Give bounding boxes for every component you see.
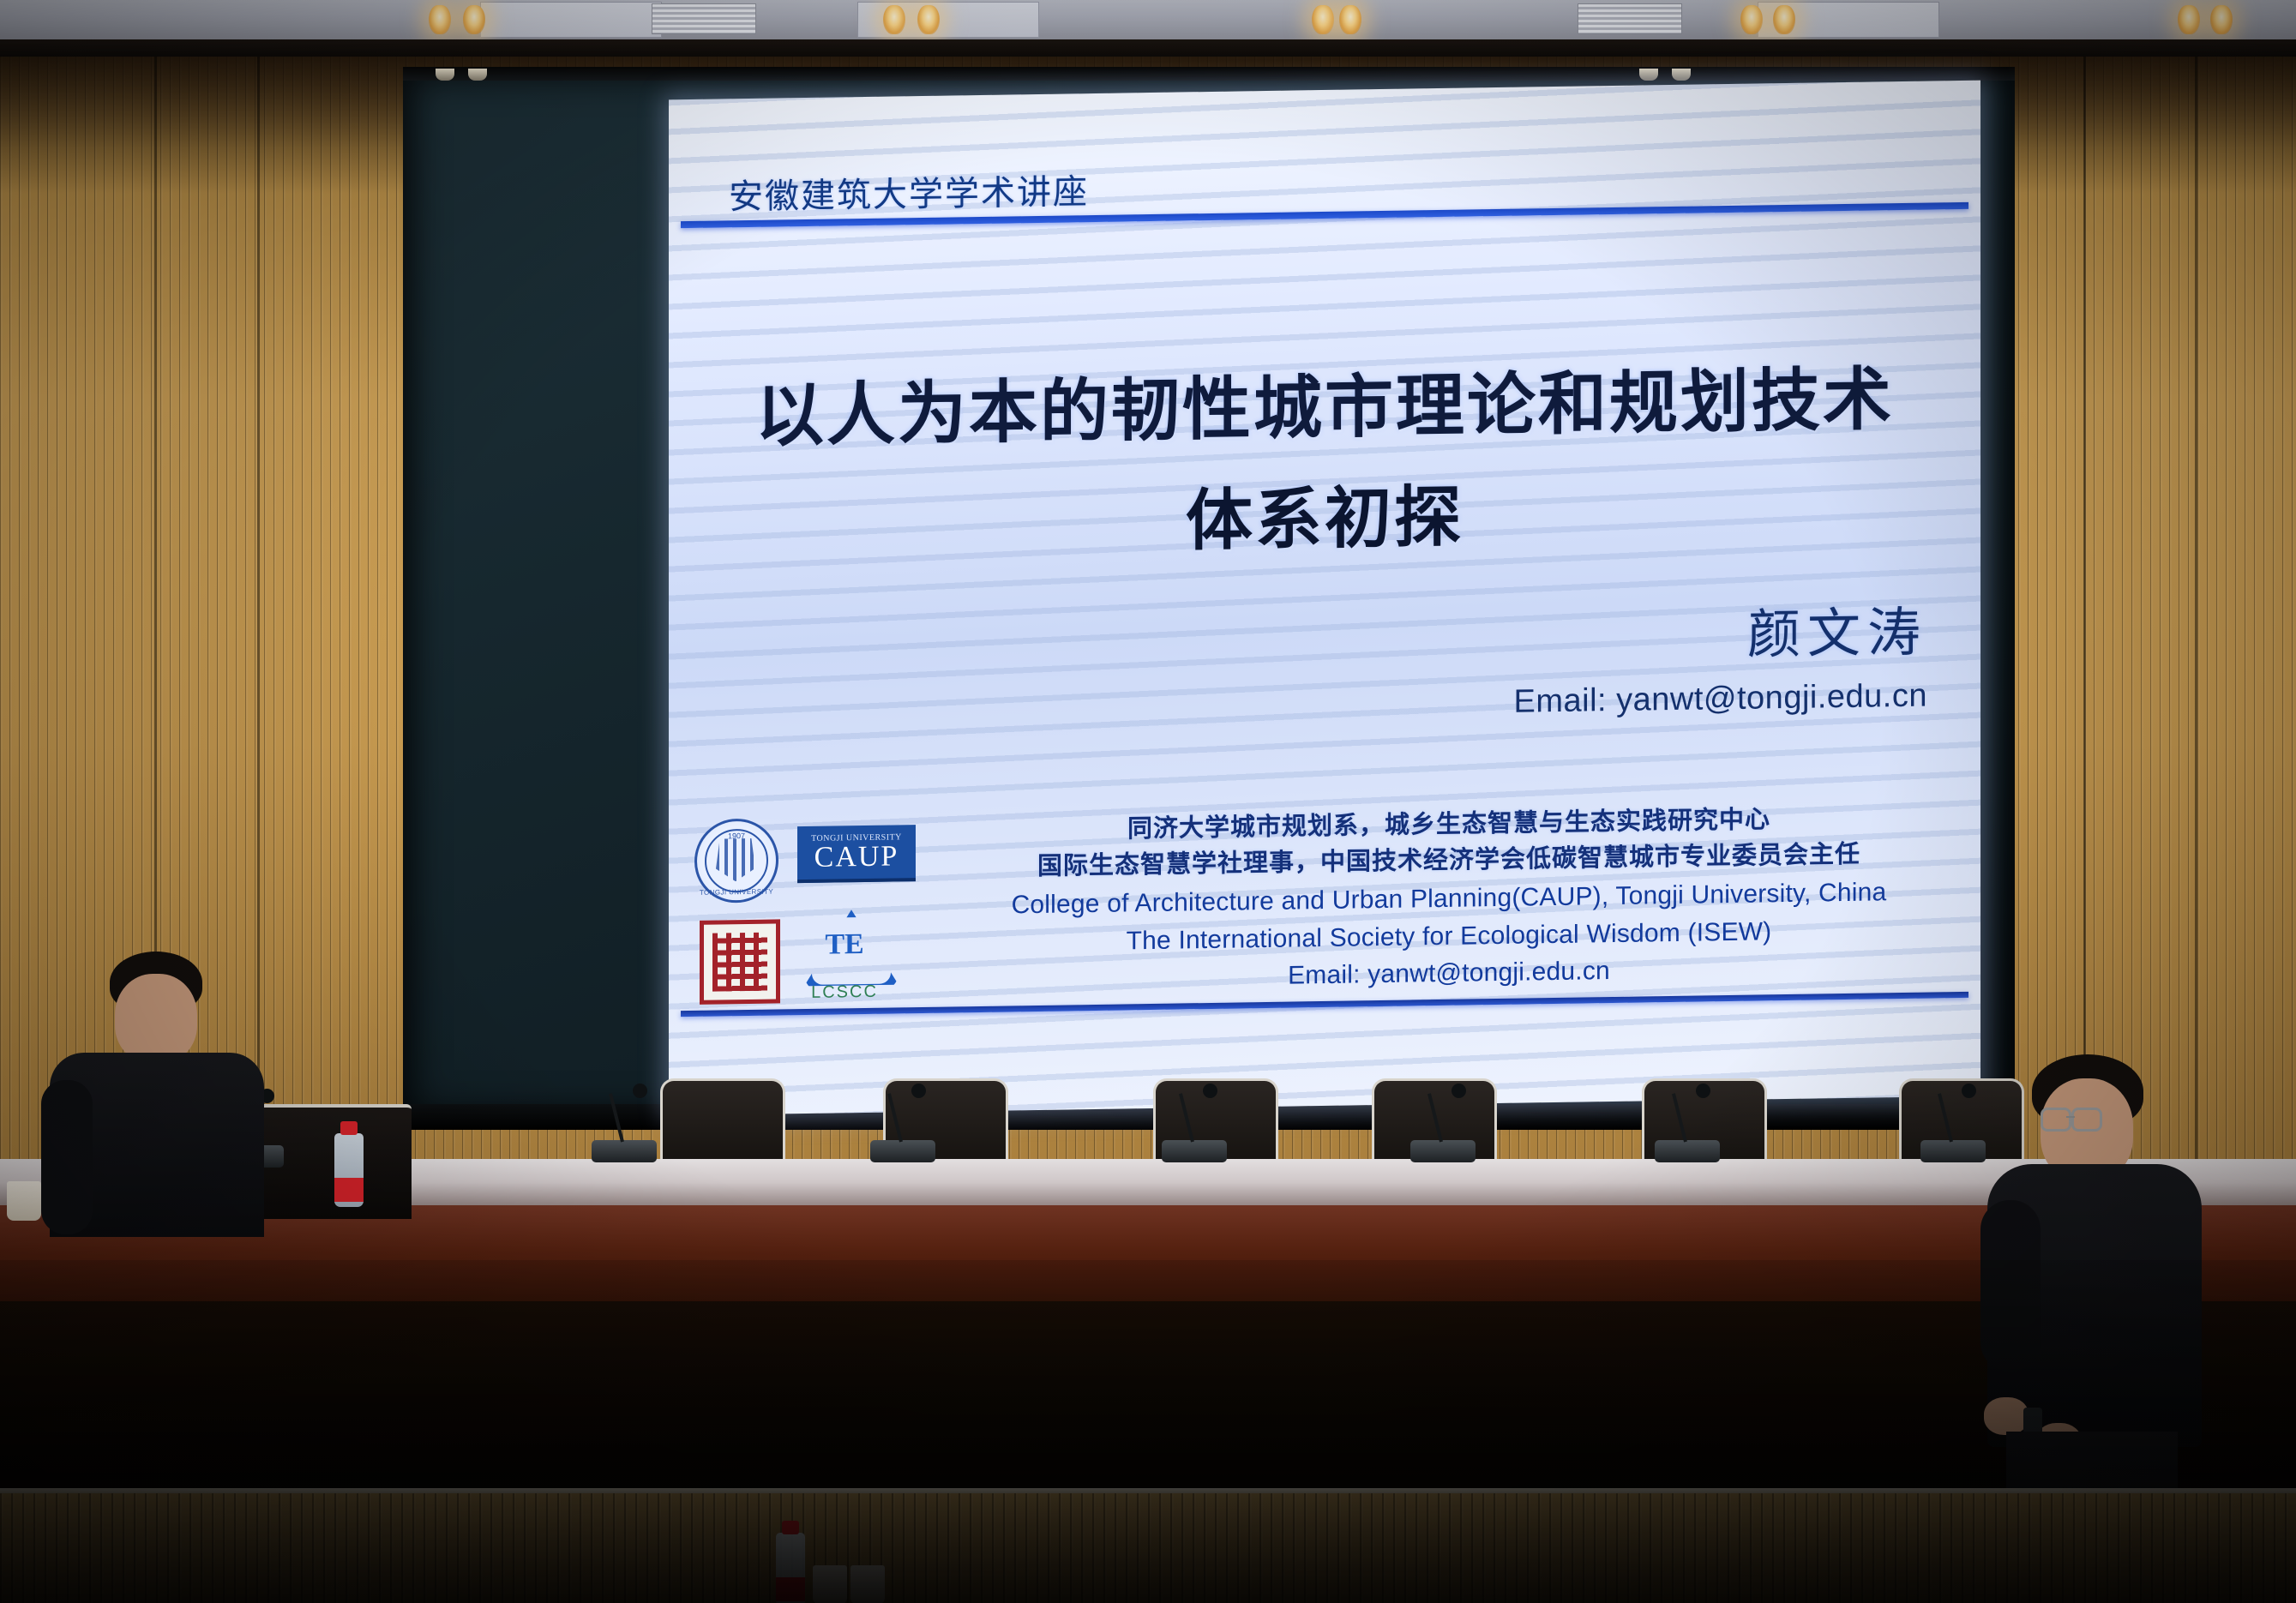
table-microphone[interactable] xyxy=(592,1140,657,1162)
presenter-glasses-bridge xyxy=(2066,1116,2075,1118)
presenter-right-arm xyxy=(1980,1200,2041,1372)
caup-main-text: CAUP xyxy=(814,842,899,872)
front-desk-wall xyxy=(0,1493,2296,1603)
caup-logo-icon: TONGJI UNIVERSITY CAUP xyxy=(797,825,916,883)
ceiling-light xyxy=(1339,5,1361,34)
table-microphone[interactable] xyxy=(1162,1140,1227,1162)
red-seal-logo-icon xyxy=(700,919,780,1004)
ceiling-light xyxy=(1312,5,1334,34)
presenter-glasses-right-lens xyxy=(2071,1108,2102,1132)
author-email: Email: yanwt@tongji.edu.cn xyxy=(1514,678,1927,721)
stage-shadow xyxy=(0,1301,2296,1498)
conference-chair xyxy=(660,1078,785,1167)
slide-logo-group: 1907 TONGJI UNIVERSITY TONGJI UNIVERSITY… xyxy=(694,816,892,999)
ceiling-light xyxy=(2210,5,2233,34)
screen-spot-light xyxy=(1639,69,1658,81)
author-name: 颜文涛 xyxy=(1514,589,1927,672)
ceiling-light xyxy=(883,5,905,34)
slide-header-title: 安徽建筑大学学术讲座 xyxy=(729,164,1089,219)
foreground-paper-cup xyxy=(813,1565,847,1603)
screen-housing-lip xyxy=(403,67,2015,81)
presentation-slide[interactable]: 安徽建筑大学学术讲座 以人为本的韧性城市理论和规划技术 体系初探 颜文涛 Ema… xyxy=(669,81,1980,1116)
conference-table-front xyxy=(0,1205,2296,1308)
ceiling-light xyxy=(917,5,940,34)
lecture-hall-scene: 安徽建筑大学学术讲座 以人为本的韧性城市理论和规划技术 体系初探 颜文涛 Ema… xyxy=(0,0,2296,1603)
bottle-cap-icon xyxy=(782,1521,799,1534)
bottle-label xyxy=(334,1178,364,1202)
foreground-water-bottle xyxy=(776,1533,805,1603)
ceiling-light xyxy=(1740,5,1763,34)
host-head xyxy=(115,974,197,1063)
lcscc-mark-text: TE xyxy=(797,928,892,962)
slide-title-line1: 以人为本的韧性城市理论和规划技术 xyxy=(669,363,1980,455)
table-microphone[interactable] xyxy=(1410,1140,1476,1162)
ceiling xyxy=(0,0,2296,43)
screen-spot-light xyxy=(468,69,487,81)
host-left-arm xyxy=(41,1080,93,1234)
slide-main-title: 以人为本的韧性城市理论和规划技术 体系初探 xyxy=(669,363,1980,572)
tongji-university-seal-icon: 1907 TONGJI UNIVERSITY xyxy=(694,818,778,903)
slide-affiliation-block: 同济大学城市规划系，城乡生态智慧与生态实践研究中心 国际生态智慧学社理事，中国技… xyxy=(952,799,1946,998)
seal-caption: TONGJI UNIVERSITY xyxy=(697,887,776,896)
slide-title-line2: 体系初探 xyxy=(669,456,1980,572)
presenter-right-hand xyxy=(1984,1397,2029,1435)
ceiling-light xyxy=(463,5,485,34)
ceiling-light xyxy=(1773,5,1795,34)
slide-author-block: 颜文涛 Email: yanwt@tongji.edu.cn xyxy=(1514,589,1927,721)
ceiling-light xyxy=(2178,5,2200,34)
screen-spot-light xyxy=(1672,69,1691,81)
foreground-paper-cup xyxy=(850,1565,885,1603)
ceiling-light xyxy=(429,5,451,34)
presenter-glasses-left-lens xyxy=(2041,1108,2071,1132)
table-microphone[interactable] xyxy=(1655,1140,1720,1162)
host-at-podium xyxy=(26,952,283,1234)
lcscc-caption: LCSCC xyxy=(797,982,892,1003)
bottle-cap-icon xyxy=(340,1121,358,1135)
screen-spot-light xyxy=(436,69,454,81)
table-microphone[interactable] xyxy=(870,1140,935,1162)
water-bottle xyxy=(334,1133,364,1207)
lcscc-logo-icon: TE LCSCC xyxy=(797,909,892,1000)
bottle-label xyxy=(776,1577,805,1601)
